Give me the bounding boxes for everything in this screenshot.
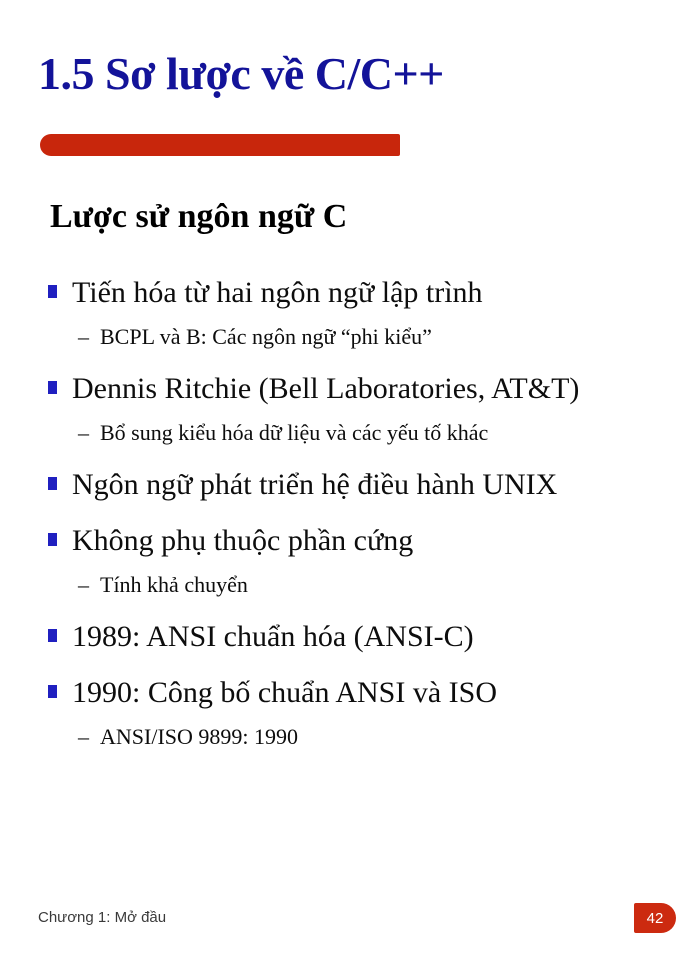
list-item-label: 1989: ANSI chuẩn hóa (ANSI-C) xyxy=(72,616,474,658)
footer-label: Chương 1: Mở đầu xyxy=(38,908,166,928)
list-item: 1990: Công bố chuẩn ANSI và ISO xyxy=(48,672,668,714)
sub-list-item: – Bổ sung kiểu hóa dữ liệu và các yếu tố… xyxy=(78,416,668,450)
dash-bullet-icon: – xyxy=(78,720,100,754)
square-bullet-icon xyxy=(48,381,57,394)
square-bullet-icon xyxy=(48,629,57,642)
sub-list-item: – BCPL và B: Các ngôn ngữ “phi kiểu” xyxy=(78,320,668,354)
list-item-label: Không phụ thuộc phần cứng xyxy=(72,520,413,562)
page-title: 1.5 Sơ lược về C/C++ xyxy=(38,47,444,101)
sub-list-item-label: ANSI/ISO 9899: 1990 xyxy=(100,720,298,754)
sub-list-item: – Tính khả chuyển xyxy=(78,568,668,602)
list-item-label: Tiến hóa từ hai ngôn ngữ lập trình xyxy=(72,272,483,314)
square-bullet-icon xyxy=(48,685,57,698)
list-item-label: Dennis Ritchie (Bell Laboratories, AT&T) xyxy=(72,368,579,410)
sub-list-item: – ANSI/ISO 9899: 1990 xyxy=(78,720,668,754)
square-bullet-icon xyxy=(48,285,57,298)
list-item: Dennis Ritchie (Bell Laboratories, AT&T) xyxy=(48,368,668,410)
dash-bullet-icon: – xyxy=(78,568,100,602)
list-item: 1989: ANSI chuẩn hóa (ANSI-C) xyxy=(48,616,668,658)
content-list: Tiến hóa từ hai ngôn ngữ lập trình – BCP… xyxy=(48,272,668,758)
square-bullet-icon xyxy=(48,533,57,546)
sub-list-item-label: Bổ sung kiểu hóa dữ liệu và các yếu tố k… xyxy=(100,416,488,450)
page-number-badge: 42 xyxy=(634,903,676,933)
list-item: Tiến hóa từ hai ngôn ngữ lập trình xyxy=(48,272,668,314)
page-number: 42 xyxy=(647,911,664,926)
sub-list-item-label: Tính khả chuyển xyxy=(100,568,248,602)
list-item-label: Ngôn ngữ phát triển hệ điều hành UNIX xyxy=(72,464,557,506)
title-accent-bar xyxy=(40,134,400,156)
slide-canvas: 1.5 Sơ lược về C/C++ Lược sử ngôn ngữ C … xyxy=(0,0,700,960)
list-item: Ngôn ngữ phát triển hệ điều hành UNIX xyxy=(48,464,668,506)
square-bullet-icon xyxy=(48,477,57,490)
sub-list-item-label: BCPL và B: Các ngôn ngữ “phi kiểu” xyxy=(100,320,432,354)
list-item-label: 1990: Công bố chuẩn ANSI và ISO xyxy=(72,672,497,714)
list-item: Không phụ thuộc phần cứng xyxy=(48,520,668,562)
dash-bullet-icon: – xyxy=(78,320,100,354)
section-heading: Lược sử ngôn ngữ C xyxy=(50,196,347,238)
dash-bullet-icon: – xyxy=(78,416,100,450)
